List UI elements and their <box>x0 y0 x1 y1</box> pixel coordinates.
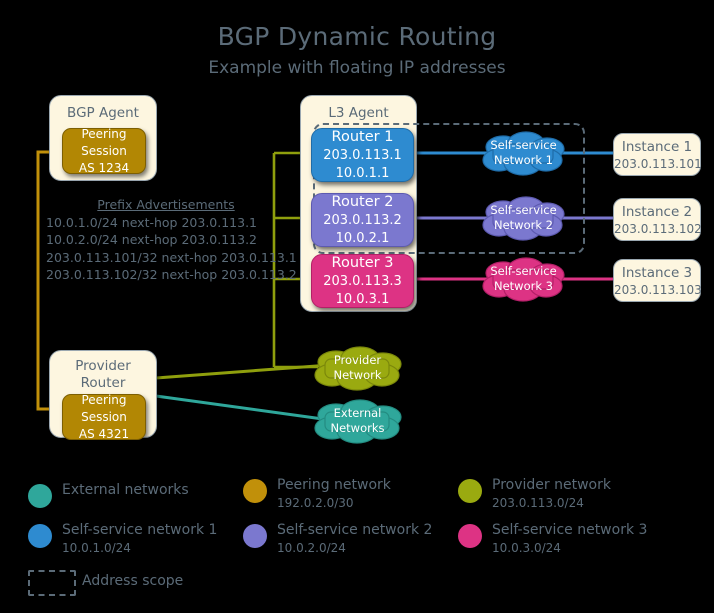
external-networks-cloud[interactable]: External Networks <box>310 398 405 444</box>
router-ip-primary: 203.0.113.2 <box>312 212 413 230</box>
diagram-canvas: BGP Dynamic Routing Example with floatin… <box>0 0 714 613</box>
cloud-line-1: Self-service <box>490 264 556 279</box>
cloud-line-2: Network <box>333 368 381 383</box>
legend-subnet: 10.0.1.0/24 <box>62 541 131 555</box>
router-name: Router 1 <box>312 128 413 147</box>
bgp-agent-box[interactable]: BGP Agent Peering Session AS 1234 <box>49 95 157 181</box>
legend-color-swatch <box>28 484 52 508</box>
router-ip-secondary: 10.0.1.1 <box>312 165 413 183</box>
peering-line-1: Peering <box>63 126 145 143</box>
provider-router-title-line-2: Router <box>50 375 156 391</box>
l3-agent-title: L3 Agent <box>301 105 416 121</box>
legend-subnet: 192.0.2.0/30 <box>277 496 354 510</box>
legend-label: Provider network <box>492 477 611 493</box>
legend-label: Peering network <box>277 477 391 493</box>
legend-color-swatch <box>28 524 52 548</box>
instance-2[interactable]: Instance 2 203.0.113.102 <box>613 198 701 241</box>
legend-address-scope-label: Address scope <box>82 573 183 589</box>
provider-router-box[interactable]: Provider Router Peering Session AS 4321 <box>49 350 157 438</box>
legend-label: Self-service network 3 <box>492 522 647 538</box>
instance-1[interactable]: Instance 1 203.0.113.101 <box>613 133 701 176</box>
provider-router-title-line-1: Provider <box>50 358 156 374</box>
peering-line-1: Peering <box>63 392 145 409</box>
instance-ip: 203.0.113.103 <box>614 282 700 298</box>
cloud-line-2: Networks <box>330 421 384 436</box>
router-ip-primary: 203.0.113.1 <box>312 147 413 165</box>
cloud-label: Self-service Network 3 <box>479 256 568 302</box>
page-subtitle: Example with floating IP addresses <box>0 58 714 78</box>
legend-color-swatch <box>458 524 482 548</box>
bgp-peering-session[interactable]: Peering Session AS 1234 <box>62 128 146 174</box>
instance-ip: 203.0.113.101 <box>614 156 700 172</box>
cloud-line-2: Network 2 <box>494 218 553 233</box>
router-name: Router 2 <box>312 193 413 212</box>
instance-3[interactable]: Instance 3 203.0.113.103 <box>613 259 701 302</box>
provider-peering-session[interactable]: Peering Session AS 4321 <box>62 394 146 440</box>
provider-network-cloud[interactable]: Provider Network <box>310 345 405 391</box>
self-service-network-2-cloud[interactable]: Self-service Network 2 <box>479 195 568 241</box>
legend-subnet: 10.0.2.0/24 <box>277 541 346 555</box>
legend-address-scope-swatch <box>28 570 76 596</box>
legend-label: External networks <box>62 482 189 498</box>
cloud-line-2: Network 1 <box>494 153 553 168</box>
cloud-label: Self-service Network 2 <box>479 195 568 241</box>
instance-ip: 203.0.113.102 <box>614 221 700 237</box>
prefix-row: 203.0.113.102/32 next-hop 203.0.113.2 <box>46 266 286 284</box>
self-service-network-3-cloud[interactable]: Self-service Network 3 <box>479 256 568 302</box>
instance-name: Instance 2 <box>614 203 700 221</box>
legend-label: Self-service network 2 <box>277 522 432 538</box>
cloud-line-2: Network 3 <box>494 279 553 294</box>
cloud-label: External Networks <box>310 398 405 444</box>
prefix-row: 203.0.113.101/32 next-hop 203.0.113.1 <box>46 249 286 267</box>
legend-color-swatch <box>243 524 267 548</box>
legend: External networks Peering network 192.0.… <box>0 470 714 613</box>
router-3[interactable]: Router 3 203.0.113.3 10.0.3.1 <box>311 254 414 308</box>
self-service-network-1-cloud[interactable]: Self-service Network 1 <box>479 130 568 176</box>
router-ip-primary: 203.0.113.3 <box>312 273 413 291</box>
router-1[interactable]: Router 1 203.0.113.1 10.0.1.1 <box>311 128 414 182</box>
prefix-row: 10.0.1.0/24 next-hop 203.0.113.1 <box>46 214 286 232</box>
router-2[interactable]: Router 2 203.0.113.2 10.0.2.1 <box>311 193 414 247</box>
page-title: BGP Dynamic Routing <box>0 22 714 51</box>
peering-line-3: AS 1234 <box>63 160 145 177</box>
router-name: Router 3 <box>312 254 413 273</box>
prefix-heading: Prefix Advertisements <box>46 196 286 214</box>
cloud-line-1: External <box>334 406 382 421</box>
instance-name: Instance 1 <box>614 138 700 156</box>
router-ip-secondary: 10.0.2.1 <box>312 230 413 248</box>
peering-line-2: Session <box>63 143 145 160</box>
legend-subnet: 203.0.113.0/24 <box>492 496 584 510</box>
cloud-label: Provider Network <box>310 345 405 391</box>
peering-line-2: Session <box>63 409 145 426</box>
cloud-line-1: Self-service <box>490 203 556 218</box>
bgp-agent-title: BGP Agent <box>50 105 156 121</box>
cloud-line-1: Provider <box>334 353 381 368</box>
legend-subnet: 10.0.3.0/24 <box>492 541 561 555</box>
cloud-line-1: Self-service <box>490 138 556 153</box>
instance-name: Instance 3 <box>614 264 700 282</box>
cloud-label: Self-service Network 1 <box>479 130 568 176</box>
prefix-row: 10.0.2.0/24 next-hop 203.0.113.2 <box>46 231 286 249</box>
legend-label: Self-service network 1 <box>62 522 217 538</box>
peering-line-3: AS 4321 <box>63 426 145 443</box>
legend-color-swatch <box>458 479 482 503</box>
legend-color-swatch <box>243 479 267 503</box>
prefix-advertisements: Prefix Advertisements 10.0.1.0/24 next-h… <box>46 196 286 284</box>
router-ip-secondary: 10.0.3.1 <box>312 291 413 309</box>
